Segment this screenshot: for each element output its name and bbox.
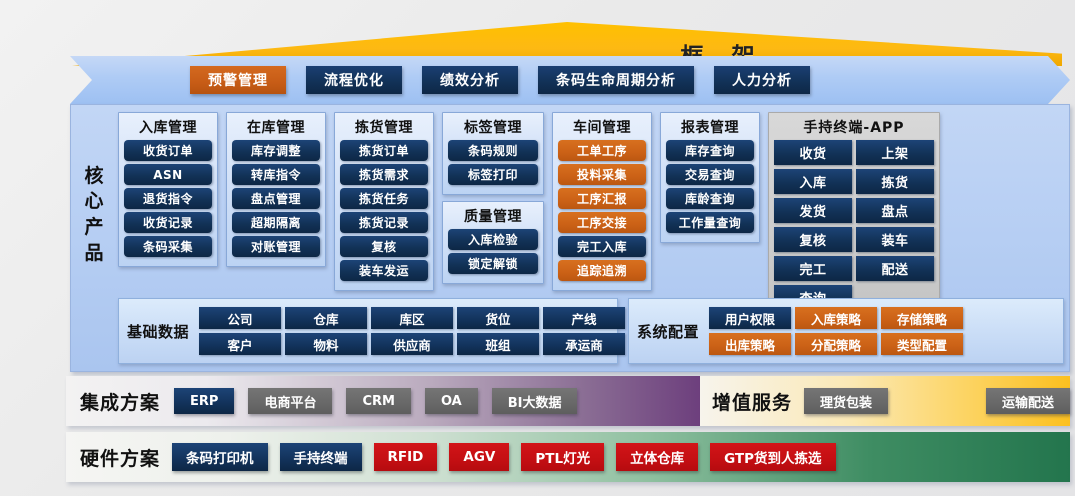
module-button-7-1[interactable]: 上架 (856, 140, 934, 165)
module-button-7-8[interactable]: 完工 (774, 256, 852, 281)
module-button-5-4[interactable]: 完工入库 (558, 236, 646, 257)
module-card-5: 车间管理工单工序投料采集工序汇报工序交接完工入库追踪追溯 (552, 112, 652, 291)
hardware-button-4[interactable]: PTL灯光 (521, 443, 604, 471)
hardware-button-2[interactable]: RFID (374, 443, 438, 471)
module-card-6: 报表管理库存查询交易查询库龄查询工作量查询 (660, 112, 760, 243)
module-button-2-5[interactable]: 装车发运 (340, 260, 428, 281)
module-button-1-2[interactable]: 盘点管理 (232, 188, 320, 209)
integration-button-1[interactable]: 电商平台 (248, 388, 332, 414)
module-card-title-7: 手持终端-APP (774, 117, 934, 137)
integration-button-2[interactable]: CRM (346, 388, 411, 414)
module-card-title-2: 拣货管理 (340, 117, 428, 137)
module-card-title-1: 在库管理 (232, 117, 320, 137)
module-card-4: 质量管理入库检验锁定解锁 (442, 201, 544, 284)
module-button-5-1[interactable]: 投料采集 (558, 164, 646, 185)
core-label-char-1: 心 (84, 190, 103, 214)
basic-data-button-0[interactable]: 公司 (199, 307, 281, 329)
module-button-2-1[interactable]: 拣货需求 (340, 164, 428, 185)
core-label-char-2: 产 (84, 216, 103, 240)
module-card-title-5: 车间管理 (558, 117, 646, 137)
module-button-2-2[interactable]: 拣货任务 (340, 188, 428, 209)
value-added-buttons: 理货包装运输配送 (804, 388, 1070, 414)
integration-button-3[interactable]: OA (425, 388, 478, 414)
integration-button-4[interactable]: BI大数据 (492, 388, 578, 414)
system-config-buttons: 用户权限出库策略入库策略分配策略存储策略类型配置 (709, 307, 963, 355)
system-config-button-1[interactable]: 出库策略 (709, 333, 791, 355)
module-button-7-6[interactable]: 复核 (774, 227, 852, 252)
module-button-1-1[interactable]: 转库指令 (232, 164, 320, 185)
module-button-0-3[interactable]: 收货记录 (124, 212, 212, 233)
bottom-strip-row: 基础数据 公司客户仓库物料库区供应商货位班组产线承运商 系统配置 用户权限出库策… (118, 298, 1064, 364)
module-card-row: 入库管理收货订单ASN退货指令收货记录条码采集在库管理库存调整转库指令盘点管理超… (118, 112, 1064, 292)
module-button-5-5[interactable]: 追踪追溯 (558, 260, 646, 281)
system-config-button-4[interactable]: 存储策略 (881, 307, 963, 329)
integration-row: 集成方案 ERP电商平台CRMOABI大数据 增值服务 理货包装运输配送 (66, 376, 1070, 426)
module-button-5-0[interactable]: 工单工序 (558, 140, 646, 161)
chevron-item-4[interactable]: 人力分析 (714, 66, 810, 94)
basic-data-button-5[interactable]: 供应商 (371, 333, 453, 355)
basic-data-button-2[interactable]: 仓库 (285, 307, 367, 329)
value-added-label: 增值服务 (712, 388, 792, 415)
hardware-label: 硬件方案 (80, 444, 160, 471)
system-config-button-0[interactable]: 用户权限 (709, 307, 791, 329)
hardware-row: 硬件方案 条码打印机手持终端RFIDAGVPTL灯光立体仓库GTP货到人拣选 (66, 432, 1070, 482)
module-card-title-3: 标签管理 (448, 117, 538, 137)
value-added-button-1[interactable]: 运输配送 (986, 388, 1070, 414)
module-button-3-0[interactable]: 条码规则 (448, 140, 538, 161)
module-button-7-9[interactable]: 配送 (856, 256, 934, 281)
module-button-4-0[interactable]: 入库检验 (448, 229, 538, 250)
system-config-strip: 系统配置 用户权限出库策略入库策略分配策略存储策略类型配置 (628, 298, 1064, 364)
chevron-item-3[interactable]: 条码生命周期分析 (538, 66, 694, 94)
basic-data-buttons: 公司客户仓库物料库区供应商货位班组产线承运商 (199, 307, 625, 355)
value-added-button-0[interactable]: 理货包装 (804, 388, 888, 414)
module-button-1-0[interactable]: 库存调整 (232, 140, 320, 161)
module-button-2-0[interactable]: 拣货订单 (340, 140, 428, 161)
basic-data-button-9[interactable]: 承运商 (543, 333, 625, 355)
integration-button-0[interactable]: ERP (174, 388, 234, 414)
chevron-item-2[interactable]: 绩效分析 (422, 66, 518, 94)
module-button-0-1[interactable]: ASN (124, 164, 212, 185)
basic-data-button-6[interactable]: 货位 (457, 307, 539, 329)
hardware-button-1[interactable]: 手持终端 (280, 443, 362, 471)
module-card-3: 标签管理条码规则标签打印 (442, 112, 544, 195)
module-button-7-3[interactable]: 拣货 (856, 169, 934, 194)
basic-data-button-1[interactable]: 客户 (199, 333, 281, 355)
module-card-title-4: 质量管理 (448, 206, 538, 226)
basic-data-label: 基础数据 (127, 321, 189, 342)
chevron-item-0[interactable]: 预警管理 (190, 66, 286, 94)
module-card-1: 在库管理库存调整转库指令盘点管理超期隔离对账管理 (226, 112, 326, 267)
basic-data-button-8[interactable]: 产线 (543, 307, 625, 329)
hardware-button-5[interactable]: 立体仓库 (616, 443, 698, 471)
module-button-7-5[interactable]: 盘点 (856, 198, 934, 223)
module-card-title-6: 报表管理 (666, 117, 754, 137)
module-card-2: 拣货管理拣货订单拣货需求拣货任务拣货记录复核装车发运 (334, 112, 434, 291)
hardware-buttons: 条码打印机手持终端RFIDAGVPTL灯光立体仓库GTP货到人拣选 (172, 443, 836, 471)
module-button-1-4[interactable]: 对账管理 (232, 236, 320, 257)
integration-label: 集成方案 (80, 388, 160, 415)
module-card-title-0: 入库管理 (124, 117, 212, 137)
basic-data-strip: 基础数据 公司客户仓库物料库区供应商货位班组产线承运商 (118, 298, 618, 364)
module-button-1-3[interactable]: 超期隔离 (232, 212, 320, 233)
module-button-6-3[interactable]: 工作量查询 (666, 212, 754, 233)
module-button-7-2[interactable]: 入库 (774, 169, 852, 194)
hardware-button-0[interactable]: 条码打印机 (172, 443, 268, 471)
module-card-7: 手持终端-APP收货上架入库拣货发货盘点复核装车完工配送查询 (768, 112, 940, 317)
core-label-char-0: 核 (84, 165, 103, 189)
module-button-6-1[interactable]: 交易查询 (666, 164, 754, 185)
module-button-6-2[interactable]: 库龄查询 (666, 188, 754, 209)
core-label-char-3: 品 (84, 242, 103, 266)
hardware-button-3[interactable]: AGV (449, 443, 509, 471)
module-button-2-3[interactable]: 拣货记录 (340, 212, 428, 233)
module-card-stack: 标签管理条码规则标签打印质量管理入库检验锁定解锁 (442, 112, 544, 284)
system-config-button-3[interactable]: 分配策略 (795, 333, 877, 355)
chevron-items: 预警管理流程优化绩效分析条码生命周期分析人力分析 (70, 56, 1070, 104)
module-button-4-1[interactable]: 锁定解锁 (448, 253, 538, 274)
module-button-5-2[interactable]: 工序汇报 (558, 188, 646, 209)
module-button-0-2[interactable]: 退货指令 (124, 188, 212, 209)
basic-data-button-4[interactable]: 库区 (371, 307, 453, 329)
module-button-7-0[interactable]: 收货 (774, 140, 852, 165)
module-button-7-4[interactable]: 发货 (774, 198, 852, 223)
system-config-button-2[interactable]: 入库策略 (795, 307, 877, 329)
value-added-services: 增值服务 理货包装运输配送 (700, 376, 1070, 426)
system-config-button-5[interactable]: 类型配置 (881, 333, 963, 355)
module-button-5-3[interactable]: 工序交接 (558, 212, 646, 233)
core-product-label: 核心产品 (76, 120, 112, 310)
hardware-button-6[interactable]: GTP货到人拣选 (710, 443, 835, 471)
integration-solutions: 集成方案 ERP电商平台CRMOABI大数据 (66, 376, 700, 426)
system-config-label: 系统配置 (637, 321, 699, 342)
basic-data-button-3[interactable]: 物料 (285, 333, 367, 355)
handheld-button-grid: 收货上架入库拣货发货盘点复核装车完工配送查询 (774, 140, 934, 310)
module-button-2-4[interactable]: 复核 (340, 236, 428, 257)
basic-data-button-7[interactable]: 班组 (457, 333, 539, 355)
integration-buttons: ERP电商平台CRMOABI大数据 (174, 388, 577, 414)
module-button-7-7[interactable]: 装车 (856, 227, 934, 252)
module-button-3-1[interactable]: 标签打印 (448, 164, 538, 185)
module-button-6-0[interactable]: 库存查询 (666, 140, 754, 161)
chevron-item-1[interactable]: 流程优化 (306, 66, 402, 94)
module-card-0: 入库管理收货订单ASN退货指令收货记录条码采集 (118, 112, 218, 267)
module-button-0-0[interactable]: 收货订单 (124, 140, 212, 161)
module-button-0-4[interactable]: 条码采集 (124, 236, 212, 257)
